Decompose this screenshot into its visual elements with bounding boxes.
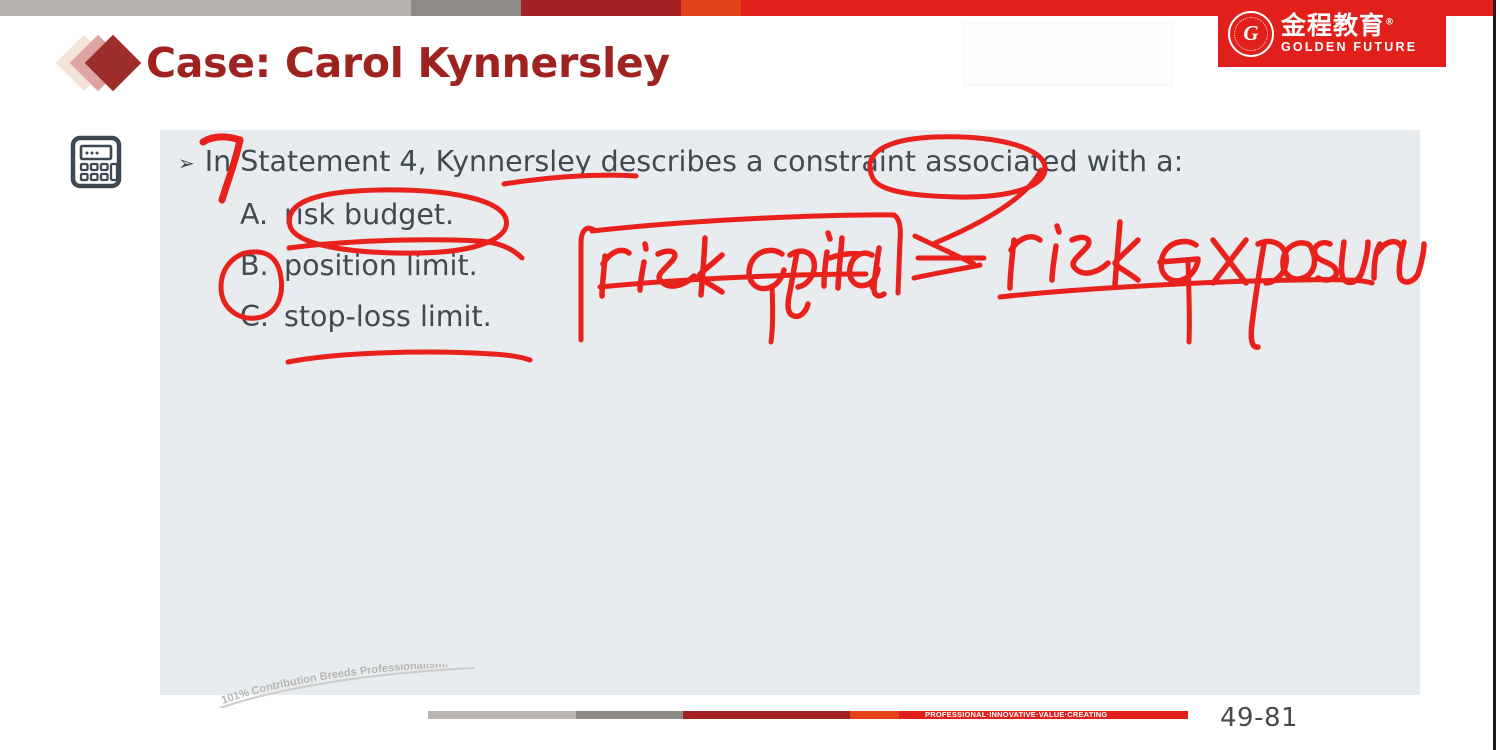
top-bar-segment-mid-gray: [411, 0, 521, 16]
option-row-c[interactable]: C. stop-loss limit.: [240, 300, 1378, 333]
top-bar-segment-dark-red: [521, 0, 681, 16]
footer-motto-text: 101% Contribution Breeds Professionalism…: [220, 664, 449, 707]
brand-seal-icon: G: [1228, 11, 1274, 57]
slide-content-panel: ➢ In Statement 4, Kynnersley describes a…: [160, 130, 1420, 695]
option-text-c: stop-loss limit.: [284, 300, 492, 333]
bullet-arrow-icon: ➢: [178, 151, 195, 177]
title-row: Case: Carol Kynnersley: [62, 28, 670, 98]
option-row-a[interactable]: A. risk budget.: [240, 198, 1378, 231]
top-bar-segment-light-gray: [0, 0, 411, 16]
calculator-icon: [68, 134, 124, 190]
footer-motto: 101% Contribution Breeds Professionalism…: [218, 664, 478, 708]
diamond-cluster-icon: [62, 32, 144, 94]
option-row-b[interactable]: B. position limit.: [240, 249, 1378, 282]
question-block: ➢ In Statement 4, Kynnersley describes a…: [178, 144, 1378, 333]
bottom-bar-segment-mid-gray: [576, 711, 682, 719]
slide-canvas: G 金程教育® GOLDEN FUTURE Case: Carol Kynner…: [0, 0, 1496, 750]
option-letter-c: C.: [240, 300, 284, 333]
bottom-bar-segment-orange: [850, 711, 899, 719]
question-stem-row: ➢ In Statement 4, Kynnersley describes a…: [178, 144, 1378, 180]
brand-seal-letter: G: [1243, 23, 1258, 44]
page-number: 49-81: [1220, 703, 1298, 733]
bottom-bar-segment-dark-red: [683, 711, 850, 719]
ghost-placeholder-box: [963, 22, 1173, 86]
brand-text-group: 金程教育® GOLDEN FUTURE: [1281, 13, 1417, 54]
top-bar-segment-orange: [681, 0, 741, 16]
option-text-b: position limit.: [284, 249, 478, 282]
bottom-bar-segment-light-gray: [428, 711, 576, 719]
question-stem-text: In Statement 4, Kynnersley describes a c…: [205, 144, 1183, 180]
option-text-a: risk budget.: [284, 198, 454, 231]
registered-mark: ®: [1385, 18, 1395, 28]
brand-name-cn-text: 金程教育: [1281, 11, 1385, 40]
option-letter-b: B.: [240, 249, 284, 282]
brand-logo: G 金程教育® GOLDEN FUTURE: [1218, 0, 1446, 67]
option-letter-a: A.: [240, 198, 284, 231]
page-title: Case: Carol Kynnersley: [146, 39, 670, 87]
footer-tagline: PROFESSIONAL·INNOVATIVE·VALUE·CREATING: [925, 709, 1107, 720]
brand-name-en: GOLDEN FUTURE: [1281, 40, 1417, 54]
brand-name-cn: 金程教育®: [1281, 13, 1417, 39]
